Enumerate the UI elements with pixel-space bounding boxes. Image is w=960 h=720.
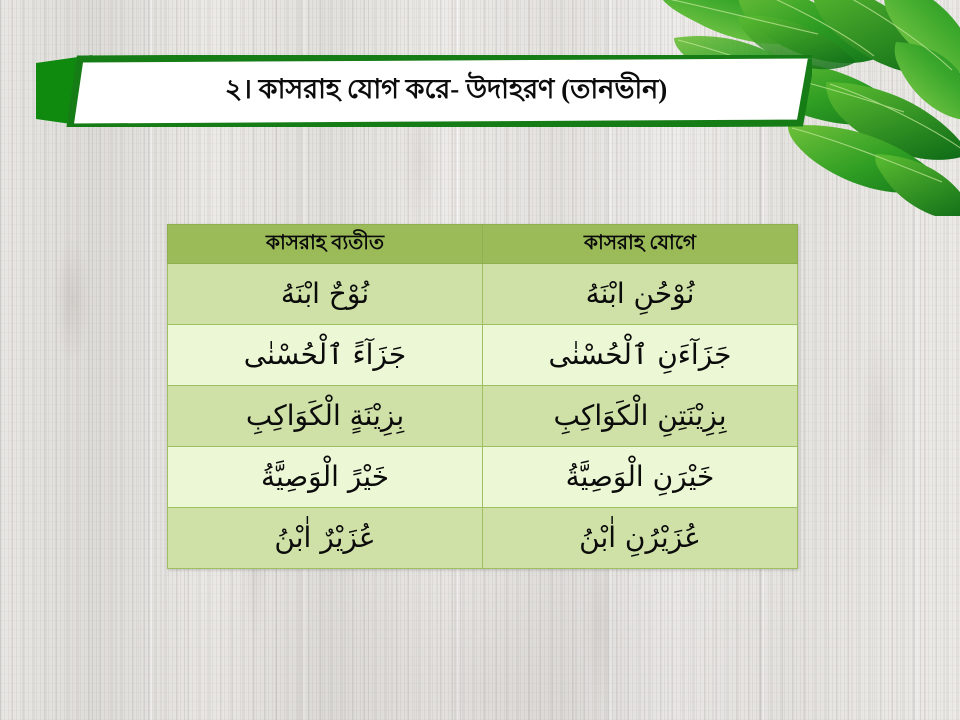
cell-without-kasrah: عُزَيْرٌ اٰبْنُ (168, 508, 483, 569)
cell-with-kasrah: خَيْرَنِ الْوَصِيَّةُ (483, 447, 798, 508)
cell-without-kasrah: جَزَآءً ٱلْحُسْنٰى (168, 325, 483, 386)
arabic-text: خَيْرَنِ الْوَصِيَّةُ (566, 456, 715, 498)
column-header-with-kasrah: কাসরাহ যোগে (483, 225, 798, 264)
arabic-text: خَيْرً الْوَصِيَّةُ (261, 456, 389, 498)
page-title: ২। কাসরাহ যোগ করে- উদাহরণ (তানভীন) (96, 55, 796, 127)
arabic-text: عُزَيْرٌ اٰبْنُ (274, 517, 375, 559)
slide-canvas: ২। কাসরাহ যোগ করে- উদাহরণ (তানভীন) কাসরা… (0, 0, 960, 720)
table-row: خَيْرً الْوَصِيَّةُ خَيْرَنِ الْوَصِيَّة… (168, 447, 798, 508)
column-header-without-kasrah: কাসরাহ ব্যতীত (168, 225, 483, 264)
table-row: نُوْحٌ ابْنَهُ نُوْحُنِ ابْنَهُ (168, 264, 798, 325)
table-row: عُزَيْرٌ اٰبْنُ عُزَيْرُنِ اٰبْنُ (168, 508, 798, 569)
table-row: جَزَآءً ٱلْحُسْنٰى جَزَآءَنِ ٱلْحُسْنٰى (168, 325, 798, 386)
cell-with-kasrah: جَزَآءَنِ ٱلْحُسْنٰى (483, 325, 798, 386)
arabic-text: نُوْحٌ ابْنَهُ (281, 273, 369, 315)
arabic-text: بِزِيْنَةٍ الْكَوَاكِبِ (246, 395, 404, 437)
title-banner: ২। কাসরাহ যোগ করে- উদাহরণ (তানভীন) (36, 55, 812, 127)
cell-without-kasrah: خَيْرً الْوَصِيَّةُ (168, 447, 483, 508)
table-header-row: কাসরাহ ব্যতীত কাসরাহ যোগে (168, 225, 798, 264)
arabic-text: نُوْحُنِ ابْنَهُ (586, 273, 695, 315)
cell-with-kasrah: عُزَيْرُنِ اٰبْنُ (483, 508, 798, 569)
arabic-text: جَزَآءَنِ ٱلْحُسْنٰى (549, 334, 732, 376)
arabic-text: عُزَيْرُنِ اٰبْنُ (579, 517, 701, 559)
examples-table: কাসরাহ ব্যতীত কাসরাহ যোগে نُوْحٌ ابْنَهُ… (167, 224, 798, 569)
cell-with-kasrah: نُوْحُنِ ابْنَهُ (483, 264, 798, 325)
arabic-text: جَزَآءً ٱلْحُسْنٰى (244, 334, 406, 376)
arabic-text: بِزِيْنَتِنِ الْكَوَاكِبِ (554, 395, 727, 437)
cell-without-kasrah: نُوْحٌ ابْنَهُ (168, 264, 483, 325)
cell-with-kasrah: بِزِيْنَتِنِ الْكَوَاكِبِ (483, 386, 798, 447)
cell-without-kasrah: بِزِيْنَةٍ الْكَوَاكِبِ (168, 386, 483, 447)
table-row: بِزِيْنَةٍ الْكَوَاكِبِ بِزِيْنَتِنِ الْ… (168, 386, 798, 447)
